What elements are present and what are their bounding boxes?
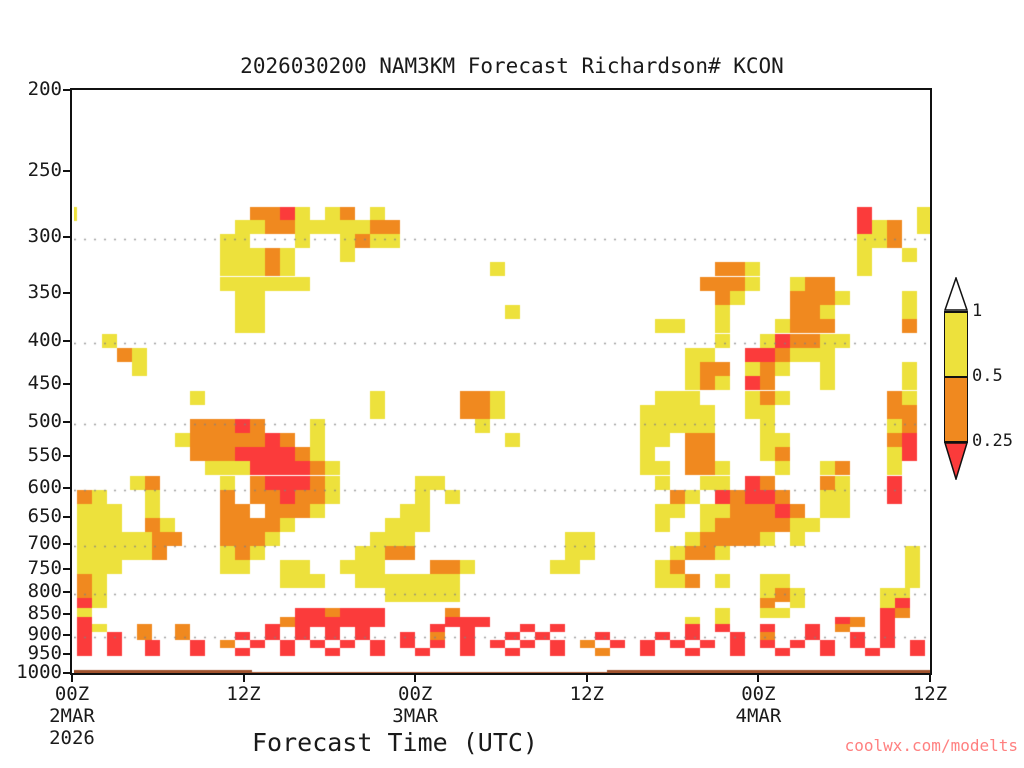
colorbar-tickline-05	[944, 376, 968, 378]
x-tick-mark	[71, 673, 73, 682]
x-tick-mark	[414, 673, 416, 682]
x-tick-label: 12Z	[865, 683, 995, 705]
colorbar-label-1: 1	[972, 301, 982, 321]
x-axis-title: Forecast Time (UTC)	[0, 728, 790, 757]
x-tick-mark	[586, 673, 588, 682]
x-tick-label: 12Z	[179, 683, 309, 705]
colorbar-over-arrow	[944, 277, 968, 311]
colorbar-tickline-1	[944, 311, 968, 313]
colorbar-under-arrow	[944, 442, 968, 480]
x-tick-mark	[757, 673, 759, 682]
x-axis-ticks: 00Z2MAR202612Z00Z3MAR12Z00Z4MAR12Z	[0, 0, 1024, 768]
x-tick-label: 00Z3MAR	[350, 683, 480, 727]
colorbar-tickline-025	[944, 441, 968, 443]
x-tick-mark	[243, 673, 245, 682]
x-tick-mark	[929, 673, 931, 682]
colorbar-segment-orange	[945, 377, 967, 443]
chart-canvas: 2026030200 NAM3KM Forecast Richardson# K…	[0, 0, 1024, 768]
watermark-credit: coolwx.com/modelts	[845, 736, 1018, 755]
colorbar-label-05: 0.5	[972, 366, 1003, 386]
x-tick-label: 00Z4MAR	[693, 683, 823, 727]
colorbar-segment-yellow	[945, 312, 967, 377]
colorbar-label-025: 0.25	[972, 431, 1013, 451]
x-tick-label: 12Z	[522, 683, 652, 705]
